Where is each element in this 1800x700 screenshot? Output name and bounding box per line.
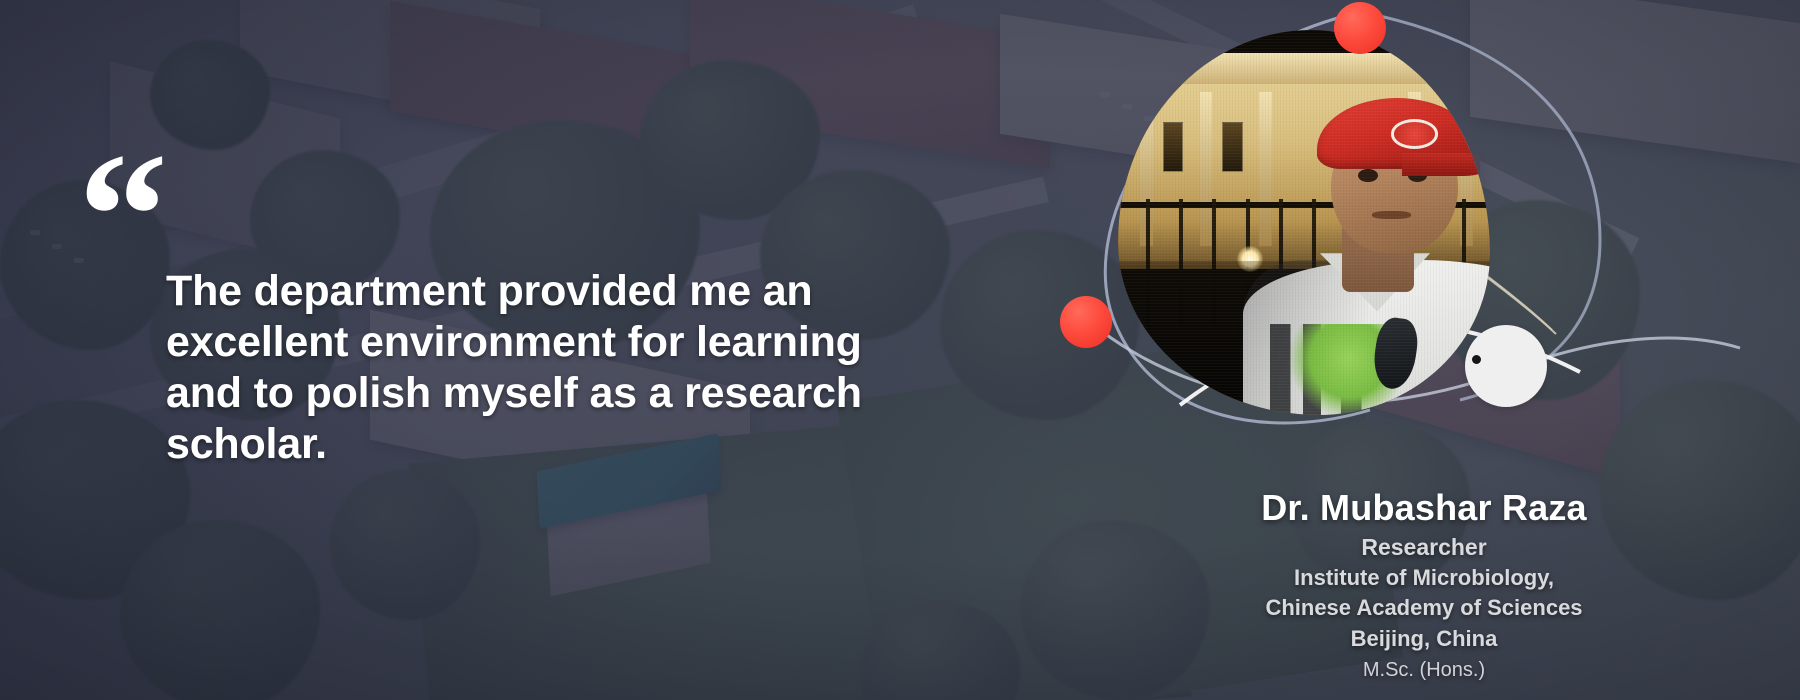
portrait-photo <box>1118 30 1490 415</box>
cap-brim <box>1402 153 1490 176</box>
portrait-building-cornice <box>1118 53 1490 84</box>
quote-mark-icon: “ <box>78 160 898 246</box>
portrait-subject <box>1259 92 1490 415</box>
red-dot-left <box>1060 296 1112 348</box>
person-name: Dr. Mubashar Raza <box>1104 488 1744 528</box>
portrait-window <box>1163 122 1184 172</box>
subject-eye <box>1358 169 1377 182</box>
person-affiliation-line-1: Institute of Microbiology, <box>1104 565 1744 592</box>
subject-mouth <box>1372 211 1411 219</box>
cap-logo-icon <box>1391 119 1439 149</box>
white-circle <box>1465 325 1547 407</box>
person-location: Beijing, China <box>1104 626 1744 653</box>
person-credit: Dr. Mubashar Raza Researcher Institute o… <box>1104 488 1744 682</box>
person-role: Researcher <box>1104 534 1744 560</box>
white-circle-anchor-dot <box>1472 355 1481 364</box>
red-dot-top <box>1334 2 1386 54</box>
portrait-window <box>1222 122 1243 172</box>
testimonial-banner: “ The department provided me an excellen… <box>0 0 1800 700</box>
person-affiliation-line-2: Chinese Academy of Sciences <box>1104 595 1744 622</box>
quote-text: The department provided me an excellent … <box>166 266 866 471</box>
quote-block: “ The department provided me an excellen… <box>78 160 898 471</box>
person-degree: M.Sc. (Hons.) <box>1104 659 1744 682</box>
